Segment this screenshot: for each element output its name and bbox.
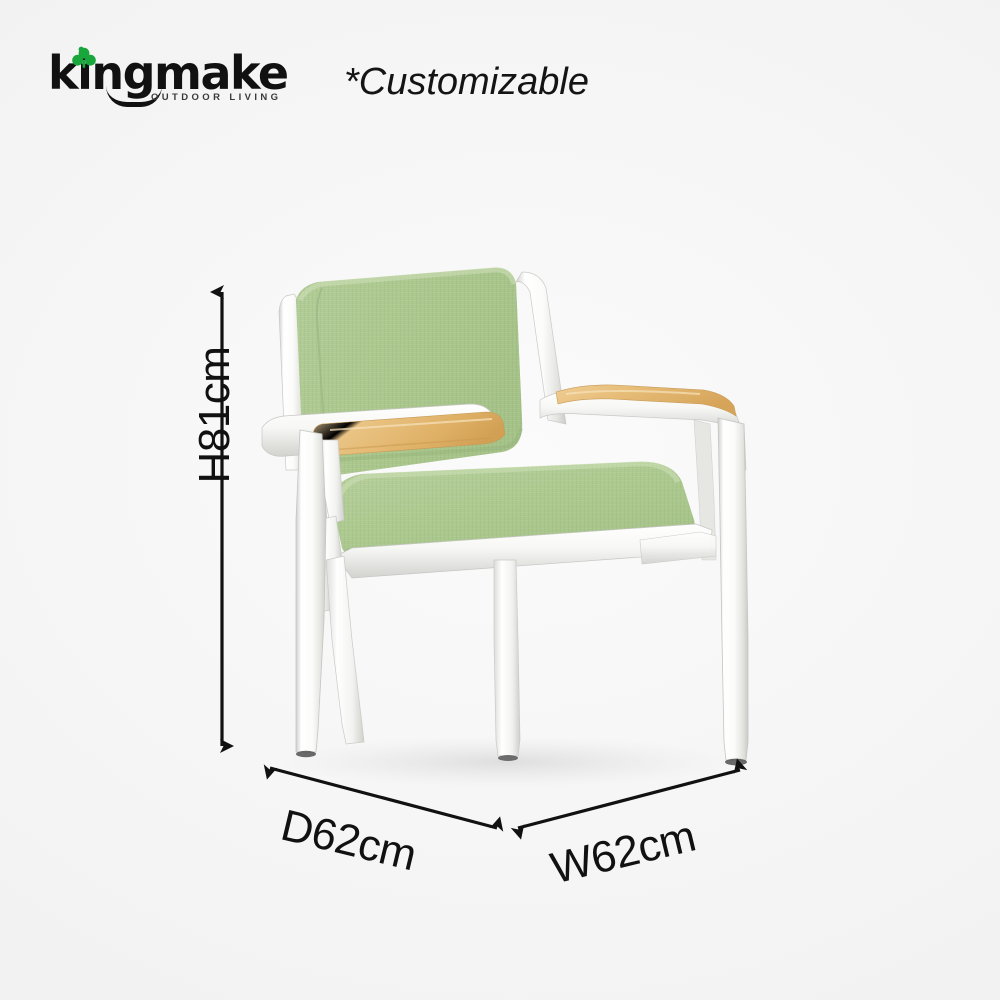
height-dimension-label: H81cm: [190, 285, 240, 545]
dimension-annotations: [0, 0, 1000, 1000]
product-image-canvas: kingmake OUTDOOR LIVING *Customizable: [0, 0, 1000, 1000]
width-dimension-arrow: [518, 770, 740, 828]
